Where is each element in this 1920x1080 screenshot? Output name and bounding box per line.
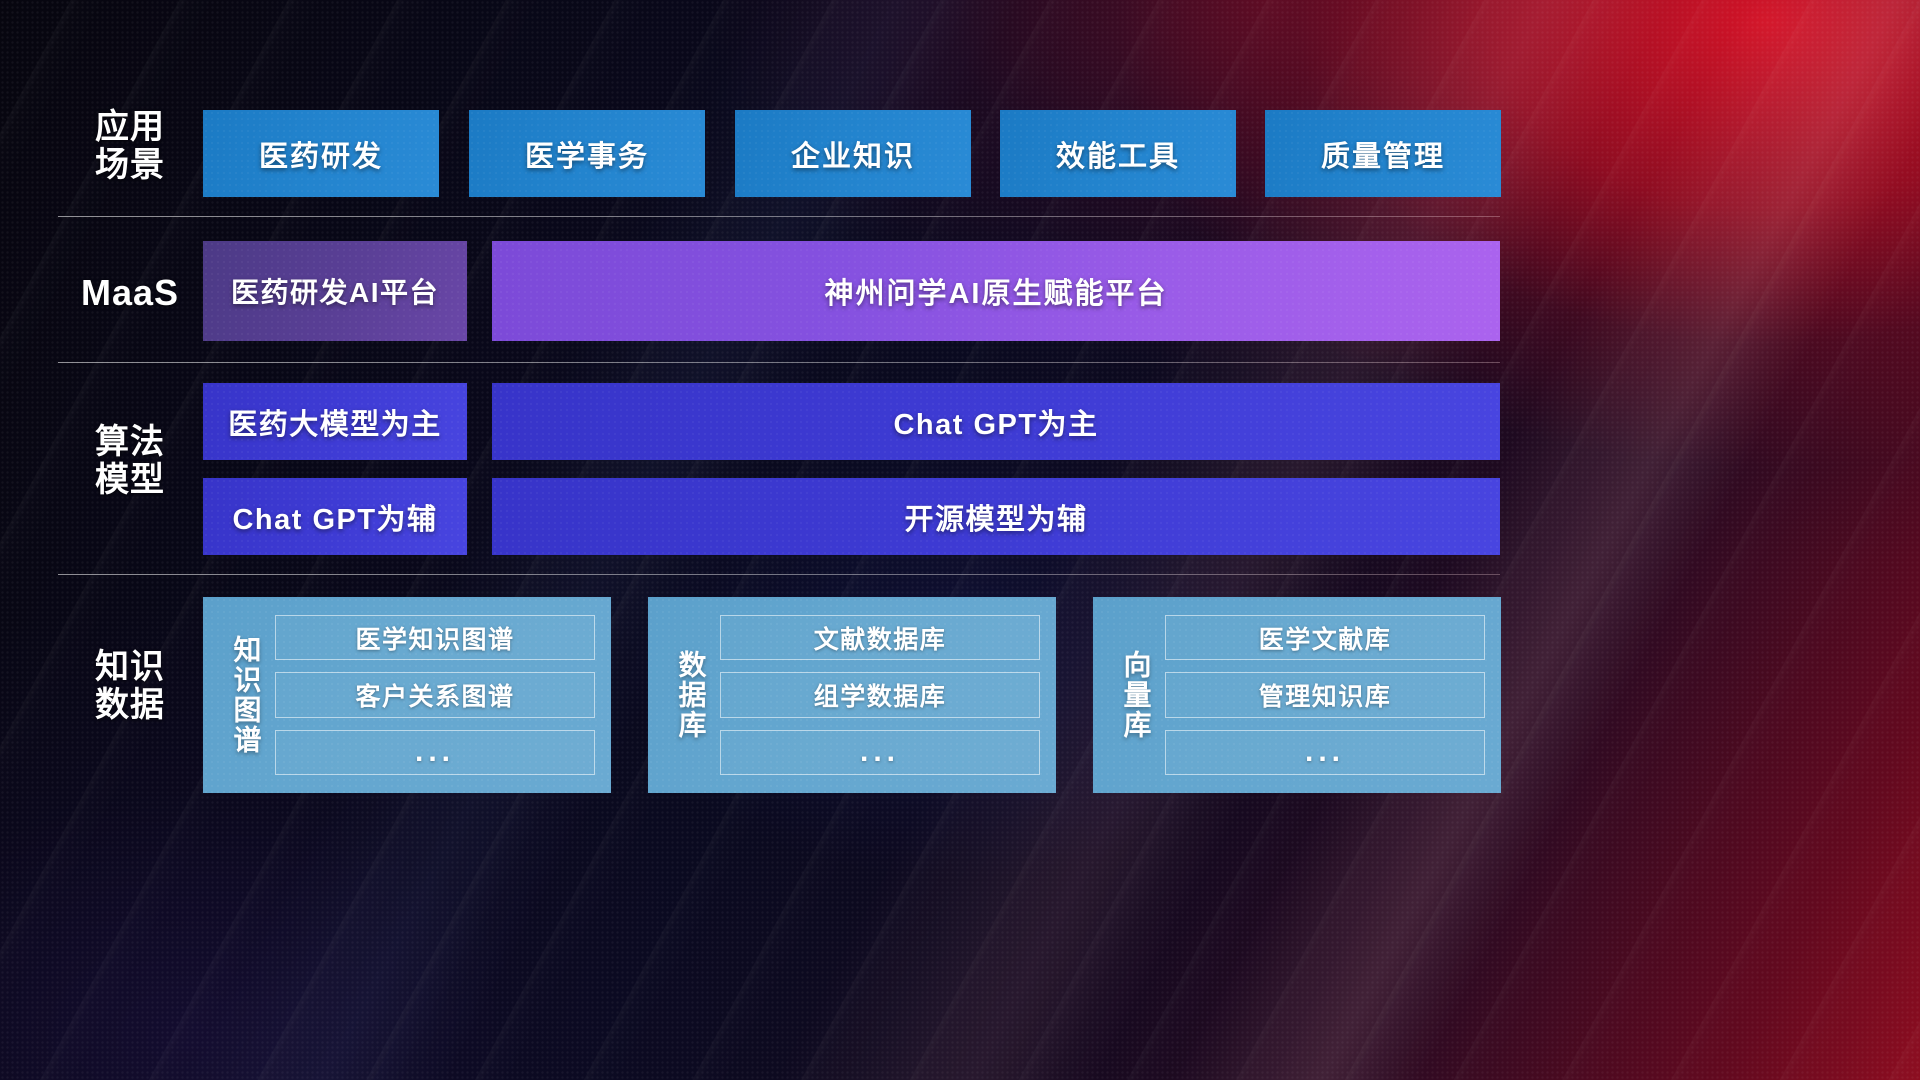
knowledge-item-more-kg[interactable]: ... [275,730,595,775]
divider-application-maas [58,216,1500,217]
knowledge-item-medical-literature[interactable]: 医学文献库 [1165,615,1485,660]
algo-box-chatgpt-primary[interactable]: Chat GPT为主 [492,383,1500,460]
knowledge-group-vector-store[interactable]: 向量库 医学文献库 管理知识库 ... [1093,597,1501,793]
maas-box-drug-rd-ai-platform[interactable]: 医药研发AI平台 [203,241,467,341]
algo-box-chatgpt-secondary[interactable]: Chat GPT为辅 [203,478,467,555]
knowledge-item-medical-kg[interactable]: 医学知识图谱 [275,615,595,660]
row-label-algorithm: 算法 模型 [60,423,200,499]
divider-algorithm-knowledge [58,574,1500,575]
knowledge-item-literature-db[interactable]: 文献数据库 [720,615,1040,660]
knowledge-items-database: 文献数据库 组学数据库 ... [720,615,1040,775]
app-box-medical-affairs[interactable]: 医学事务 [469,110,705,197]
app-box-enterprise-knowledge[interactable]: 企业知识 [735,110,971,197]
divider-maas-algorithm [58,362,1500,363]
row-label-application: 应用 场景 [60,108,200,184]
maas-box-shenzhou-wenxue-platform[interactable]: 神州问学AI原生赋能平台 [492,241,1500,341]
knowledge-group-knowledge-graph[interactable]: 知识图谱 医学知识图谱 客户关系图谱 ... [203,597,611,793]
algo-box-pharma-llm-primary[interactable]: 医药大模型为主 [203,383,467,460]
app-box-efficiency-tools[interactable]: 效能工具 [1000,110,1236,197]
algo-box-opensource-secondary[interactable]: 开源模型为辅 [492,478,1500,555]
knowledge-items-knowledge-graph: 医学知识图谱 客户关系图谱 ... [275,615,595,775]
knowledge-item-more-vector[interactable]: ... [1165,730,1485,775]
knowledge-item-management-knowledge[interactable]: 管理知识库 [1165,672,1485,717]
knowledge-item-omics-db[interactable]: 组学数据库 [720,672,1040,717]
row-label-knowledge: 知识 数据 [60,648,200,724]
knowledge-items-vector-store: 医学文献库 管理知识库 ... [1165,615,1485,775]
row-label-maas: MaaS [60,273,200,313]
knowledge-group-label-vector-store: 向量库 [1107,615,1165,775]
knowledge-item-customer-relation-kg[interactable]: 客户关系图谱 [275,672,595,717]
knowledge-item-more-db[interactable]: ... [720,730,1040,775]
app-box-drug-rd[interactable]: 医药研发 [203,110,439,197]
knowledge-group-database[interactable]: 数据库 文献数据库 组学数据库 ... [648,597,1056,793]
knowledge-group-label-knowledge-graph: 知识图谱 [217,615,275,775]
app-box-quality-management[interactable]: 质量管理 [1265,110,1501,197]
diagram-canvas: 应用 场景 医药研发 医学事务 企业知识 效能工具 质量管理 MaaS 医药研发… [0,0,1920,1080]
knowledge-group-label-database: 数据库 [662,615,720,775]
